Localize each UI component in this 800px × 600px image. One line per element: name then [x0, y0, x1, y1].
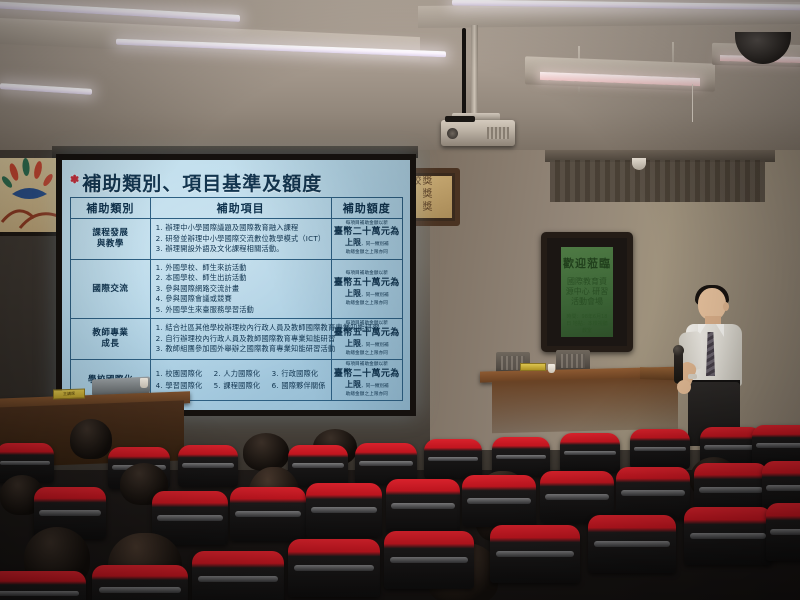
seat: [490, 525, 580, 583]
audience-head: [70, 419, 112, 459]
slide-content: ✽ 補助類別、項目基準及額度 補助類別 補: [62, 160, 410, 410]
subsidy-table: 補助類別 補助項目 補助額度 課程發展 與教學: [70, 197, 403, 401]
seat: [424, 439, 482, 479]
row-items: 1. 結合社區其他學校辦理校內行政人員及教師國際教育專業知能研習 2. 自行辦理…: [150, 319, 331, 360]
projection-screen: ✽ 補助類別、項目基準及額度 補助類別 補: [56, 154, 416, 416]
window-curtain: [550, 160, 765, 202]
poster-fine-print: 時間：98年6月18日 地點：本校視聽教室: [561, 314, 613, 335]
seat: [560, 433, 620, 473]
projector-cable: [462, 28, 466, 120]
podium-sign-text: 主講席: [54, 389, 84, 398]
row-category: 課程發展 與教學: [71, 219, 151, 260]
seat: [288, 445, 348, 487]
table-row: 國際交流 1. 外國學校、師生來訪活動 2. 本國學校、師生出訪活動 3. 參與…: [71, 259, 403, 319]
row-amount: 每項目補助金額以新 臺幣二十萬元為 上限，同一類別補 助總金額之上限亦同: [331, 360, 402, 401]
presenter-collar: [716, 324, 724, 337]
audience-head: [243, 433, 289, 471]
ceiling-projector: [441, 120, 515, 146]
title-flower-icon: ✽: [70, 175, 79, 186]
slide-title: 補助類別、項目基準及額度: [82, 173, 322, 195]
table-row: 課程發展 與教學 1. 辦理中小學國際議題及國際教育融入課程 2. 研發並辦理中…: [71, 219, 403, 260]
seat: [178, 445, 238, 487]
table-row: 教師專業 成長 1. 結合社區其他學校辦理校內行政人員及教師國際教育專業知能研習…: [71, 319, 403, 360]
row-amount: 每項目補助金額以新 臺幣二十萬元為 上限，同一類別補 助總金額之上限亦同: [331, 219, 402, 260]
projector-vent: [487, 127, 509, 139]
header-items: 補助項目: [150, 198, 331, 219]
seat: [288, 539, 380, 597]
seat: [386, 479, 460, 533]
projector-lens-icon: [447, 128, 458, 139]
seat: [616, 467, 690, 519]
seat: [192, 551, 284, 600]
seat: [92, 565, 188, 600]
lecture-hall-scene: 獎 獎 獎 校 歡迎蒞臨 國際教育資源中心 研習活動會場 時間：98年6月18日…: [0, 0, 800, 600]
header-amount: 補助額度: [331, 198, 402, 219]
seat: [0, 571, 86, 600]
paper-cup: [140, 378, 148, 388]
header-category: 補助類別: [71, 198, 151, 219]
presenter-ear: [723, 302, 729, 311]
seat: [684, 507, 772, 565]
slide-title-row: ✽ 補助類別、項目基準及額度: [70, 166, 403, 195]
row-category: 國際交流: [71, 259, 151, 319]
table-nameplate: [520, 363, 546, 371]
seat: [462, 475, 536, 527]
seat: [588, 515, 676, 573]
row-items: 1. 外國學校、師生來訪活動 2. 本國學校、師生出訪活動 3. 參與國際網路交…: [150, 259, 331, 319]
podium-nameplate: 主講席: [53, 388, 85, 399]
row-items: 1. 辦理中小學國際議題及國際教育融入課程 2. 研發並辦理中小學國際交流數位教…: [150, 219, 331, 260]
seat: [306, 483, 382, 537]
paper-cup: [548, 364, 555, 373]
wristwatch-icon: [688, 374, 697, 379]
microphone-icon: [674, 350, 683, 384]
seat: [230, 487, 306, 541]
light-pull-cord: [692, 84, 693, 122]
seat: [630, 429, 690, 469]
row-amount: 每項目補助金額以新 臺幣五十萬元為 上限，同一類別補 助總金額之上限亦同: [331, 259, 402, 319]
welcome-poster: 歡迎蒞臨 國際教育資源中心 研習活動會場 時間：98年6月18日 地點：本校視聽…: [541, 232, 633, 352]
seat: [766, 503, 800, 561]
seat: [384, 531, 474, 589]
row-category: 教師專業 成長: [71, 319, 151, 360]
presenter-hand: [677, 380, 691, 394]
audience-seating: [0, 415, 800, 600]
projector-mount: [471, 25, 478, 117]
poster-subtitle: 國際教育資源中心 研習活動會場: [561, 277, 613, 307]
poster-title: 歡迎蒞臨: [561, 255, 613, 271]
table-header-row: 補助類別 補助項目 補助額度: [71, 198, 403, 219]
